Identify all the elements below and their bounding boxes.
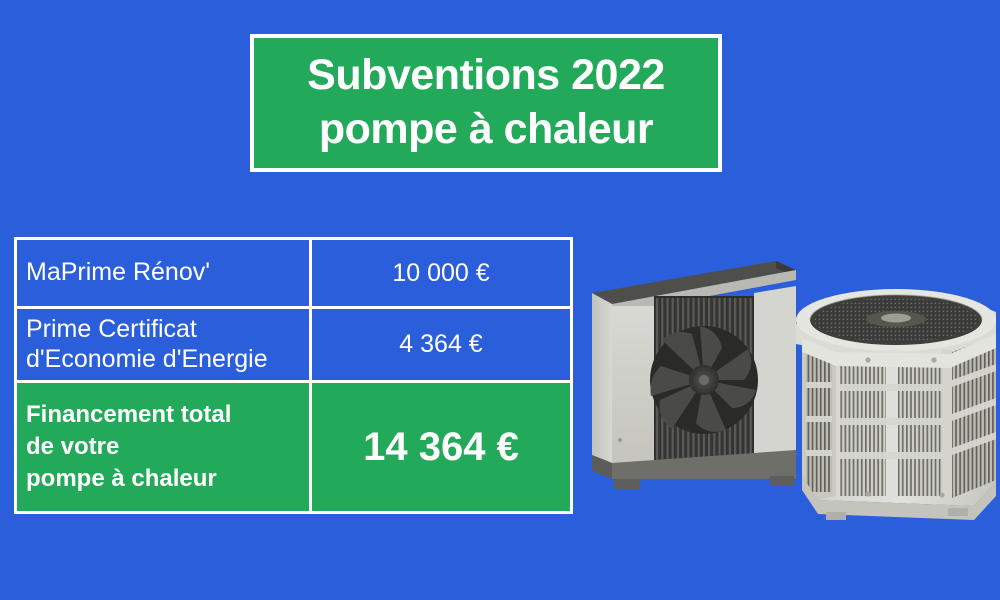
title-line-2: pompe à chaleur — [319, 103, 653, 157]
value-amount: 4 364 € — [399, 330, 482, 359]
table-row: MaPrime Rénov' 10 000 € — [17, 240, 570, 306]
title-banner: Subventions 2022 pompe à chaleur — [250, 34, 722, 172]
label-line: MaPrime Rénov' — [26, 258, 309, 288]
value-amount: 10 000 € — [392, 259, 489, 288]
subsidy-table: MaPrime Rénov' 10 000 € Prime Certificat… — [14, 237, 573, 514]
monobloc-heat-pump-unit — [592, 261, 796, 489]
table-cell-value-prime-cee: 4 364 € — [312, 309, 570, 380]
label-line: d'Economie d'Energie — [26, 345, 309, 375]
title-line-1: Subventions 2022 — [307, 49, 665, 103]
table-cell-label-total: Financement total de votre pompe à chale… — [17, 383, 309, 511]
heat-pump-illustration — [578, 250, 1000, 560]
table-row-total: Financement total de votre pompe à chale… — [17, 383, 570, 511]
poster-canvas: Subventions 2022 pompe à chaleur MaPrime… — [0, 0, 1000, 600]
label-line: Prime Certificat — [26, 315, 309, 345]
table-cell-value-maprimerenov: 10 000 € — [312, 240, 570, 306]
condenser-heat-pump-unit — [796, 289, 996, 520]
table-cell-label-prime-cee: Prime Certificat d'Economie d'Energie — [17, 309, 309, 380]
table-cell-label-maprimerenov: MaPrime Rénov' — [17, 240, 309, 306]
label-line: pompe à chaleur — [26, 463, 309, 495]
label-line: Financement total — [26, 399, 309, 431]
value-amount-total: 14 364 € — [363, 425, 519, 470]
label-line: de votre — [26, 431, 309, 463]
table-row: Prime Certificat d'Economie d'Energie 4 … — [17, 309, 570, 380]
table-cell-value-total: 14 364 € — [312, 383, 570, 511]
